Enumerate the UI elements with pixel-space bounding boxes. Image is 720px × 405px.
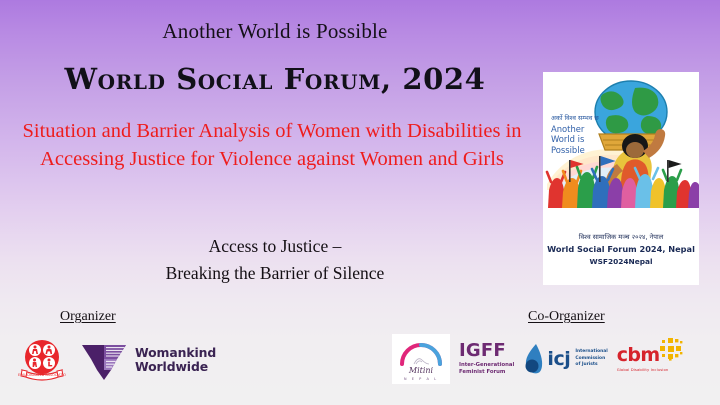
slide-main-title: World Social Forum, 2024 <box>30 64 520 94</box>
presentation-slide: Another World is Possible World Social F… <box>0 0 720 405</box>
igff-tagline-line-1: Inter-Generational <box>459 362 514 369</box>
icj-logo: icj International Commission of Jurists <box>523 342 607 376</box>
mitini-nepal-logo: Mitini N E P A L <box>392 334 450 384</box>
igff-tagline-line-2: Feminist Forum <box>459 369 514 376</box>
nfdn-emblem-logo: NEPAL DISABLED ASSOCIATION <box>18 336 66 384</box>
slide-tagline: Another World is Possible <box>40 20 510 43</box>
igff-logo: IGFF Inter-Generational Feminist Forum <box>459 342 514 377</box>
womankind-line-2: Worldwide <box>135 360 216 374</box>
cbm-starburst-icon <box>658 337 684 361</box>
poster-slogan-english: Another World is Possible <box>551 124 603 155</box>
wsf-poster-image: अर्को विश्व सम्भव छ Another World is Pos… <box>543 72 699 285</box>
mitini-title: Mitini <box>392 366 450 375</box>
poster-caption-hashtag: WSF2024Nepal <box>543 257 699 266</box>
cbm-logo: cbm Global Disability Inclusion <box>617 346 669 372</box>
poster-caption: विश्व सामाजिक मञ्च २०२४, नेपाल World Soc… <box>543 232 699 266</box>
poster-caption-english: World Social Forum 2024, Nepal <box>543 244 699 254</box>
co-organizer-label: Co-Organizer <box>528 309 605 325</box>
cbm-tagline: Global Disability Inclusion <box>617 367 669 372</box>
mitini-subtitle: N E P A L <box>392 377 450 381</box>
poster-slogan: अर्को विश्व सम्भव छ Another World is Pos… <box>551 114 603 155</box>
organizer-label: Organizer <box>60 309 116 325</box>
poster-slogan-nepali: अर्को विश्व सम्भव छ <box>551 114 603 122</box>
icj-wordmark: icj <box>547 350 570 368</box>
slide-subject-title: Situation and Barrier Analysis of Women … <box>12 117 532 173</box>
slide-theme: Access to Justice – Breaking the Barrier… <box>40 233 510 287</box>
icj-flame-drop-icon <box>523 342 543 376</box>
icj-tagline-line-3: of Jurists <box>575 362 607 369</box>
womankind-w-mark-icon <box>80 339 128 381</box>
womankind-line-1: Womankind <box>135 346 216 360</box>
theme-line-1: Access to Justice – <box>40 233 510 260</box>
womankind-wordmark: Womankind Worldwide <box>135 346 216 374</box>
co-organizer-logo-row: Mitini N E P A L IGFF Inter-Generational… <box>392 334 668 384</box>
icj-tagline-line-1: International <box>575 349 607 356</box>
poster-caption-nepali: विश्व सामाजिक मञ्च २०२४, नेपाल <box>543 232 699 241</box>
svg-text:NEPAL DISABLED ASSOCIATION: NEPAL DISABLED ASSOCIATION <box>18 373 66 377</box>
womankind-worldwide-logo: Womankind Worldwide <box>80 339 216 381</box>
icj-tagline: International Commission of Jurists <box>575 349 607 369</box>
organizer-logo-row: NEPAL DISABLED ASSOCIATION Womankind Wor… <box>18 336 216 384</box>
theme-line-2: Breaking the Barrier of Silence <box>40 260 510 287</box>
igff-wordmark: IGFF <box>459 342 514 360</box>
